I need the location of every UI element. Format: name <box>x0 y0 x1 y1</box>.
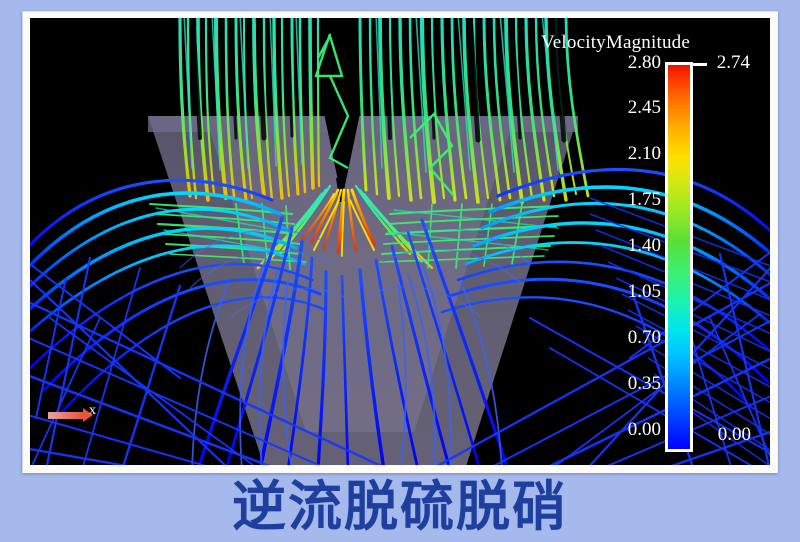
streamline-field <box>30 18 770 465</box>
screenshot-root: VelocityMagnitude 2.74 0.00 2.80 2.45 2.… <box>0 0 800 542</box>
image-frame: VelocityMagnitude 2.74 0.00 2.80 2.45 2.… <box>22 11 778 473</box>
figure-caption: 逆流脱硫脱硝 <box>0 476 800 538</box>
axis-orientation-widget: x <box>48 403 118 429</box>
render-viewport[interactable]: VelocityMagnitude 2.74 0.00 2.80 2.45 2.… <box>30 18 770 465</box>
x-axis-arrow-icon <box>48 412 84 419</box>
x-axis-label: x <box>89 403 96 419</box>
